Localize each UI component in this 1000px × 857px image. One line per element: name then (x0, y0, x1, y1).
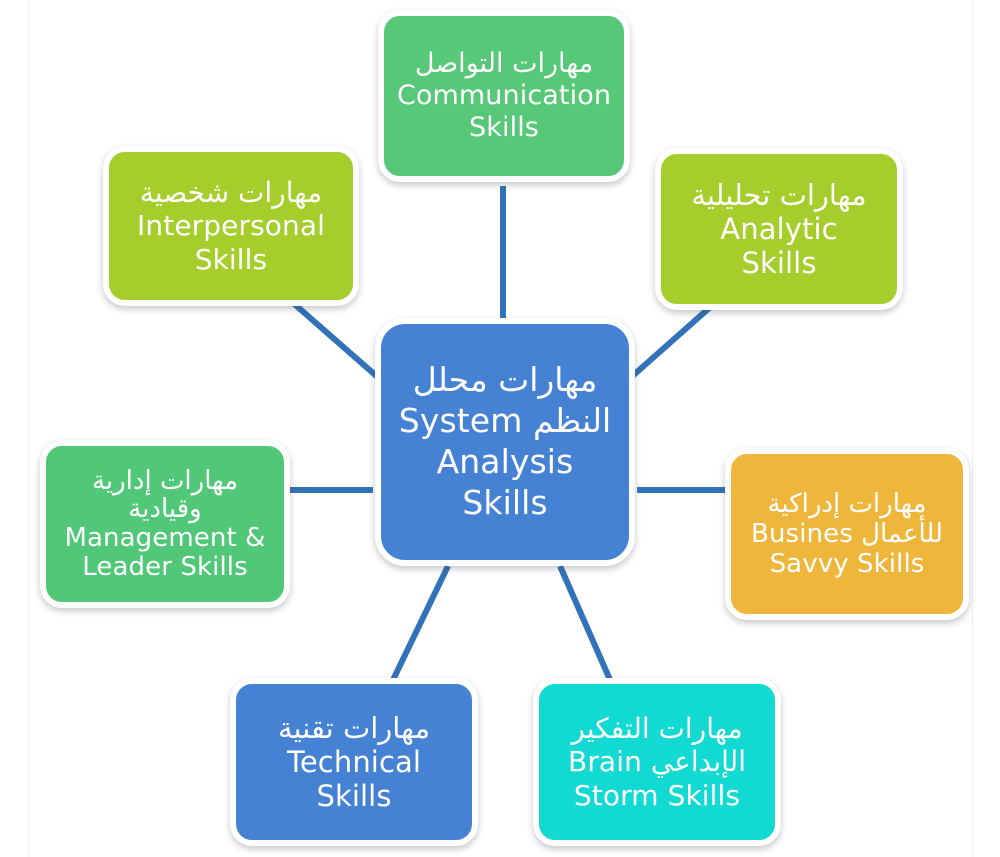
node-communication-line-1: مهارات التواصل (415, 48, 593, 80)
connector-center-to-brainstorm (560, 566, 611, 682)
connector-center-to-analytic (628, 302, 716, 380)
node-management-line-3: Management & (64, 524, 265, 553)
node-brainstorm-line-2: الإبداعي Brain (568, 745, 746, 778)
node-center-line-1: مهارات محلل (413, 361, 598, 400)
node-interpersonal-line-1: مهارات شخصية (140, 176, 322, 209)
node-analytic-line-1: مهارات تحليلية (691, 178, 866, 212)
node-communication-line-3: Skills (469, 112, 539, 144)
node-technical-skills[interactable]: مهارات تقنية Technical Skills (230, 678, 478, 846)
node-analytic-line-2: Analytic (720, 212, 837, 246)
node-analytic-skills[interactable]: مهارات تحليلية Analytic Skills (655, 148, 903, 310)
node-technical-line-3: Skills (316, 779, 391, 813)
node-brainstorm-line-1: مهارات التفكير (571, 712, 742, 745)
node-management-and-leader-skills[interactable]: مهارات إدارية وقيادية Management & Leade… (40, 440, 290, 608)
node-brainstorm-line-3: Storm Skills (574, 779, 740, 812)
node-analytic-line-3: Skills (741, 246, 816, 280)
diagram-canvas: مهارات محلل النظم System Analysis Skills… (0, 0, 1000, 857)
node-interpersonal-line-2: Interpersonal (137, 209, 325, 242)
node-business-line-1: مهارات إدراكية (767, 489, 926, 519)
connector-center-to-interpersonal (292, 302, 381, 380)
node-system-analysis-skills[interactable]: مهارات محلل النظم System Analysis Skills (375, 318, 635, 566)
node-management-line-2: وقيادية (128, 495, 202, 524)
node-management-line-4: Leader Skills (82, 553, 248, 582)
node-interpersonal-skills[interactable]: مهارات شخصية Interpersonal Skills (103, 146, 359, 306)
node-management-line-1: مهارات إدارية (92, 467, 238, 496)
node-technical-line-2: Technical (287, 745, 421, 779)
node-interpersonal-line-3: Skills (195, 243, 268, 276)
node-brain-storm-skills[interactable]: مهارات التفكير الإبداعي Brain Storm Skil… (533, 678, 781, 846)
node-center-line-4: Skills (462, 484, 547, 523)
node-center-line-3: Analysis (437, 443, 574, 482)
node-communication-line-2: Communication (397, 80, 611, 112)
node-center-line-2: النظم System (399, 402, 611, 441)
node-technical-line-1: مهارات تقنية (278, 711, 430, 745)
connector-center-to-technical (392, 566, 448, 682)
node-business-savvy-skills[interactable]: مهارات إدراكية للأعمال Busines Savvy Ski… (725, 448, 969, 620)
node-business-line-2: للأعمال Busines (751, 519, 943, 549)
node-communication-skills[interactable]: مهارات التواصل Communication Skills (378, 10, 630, 182)
node-business-line-3: Savvy Skills (770, 549, 925, 579)
